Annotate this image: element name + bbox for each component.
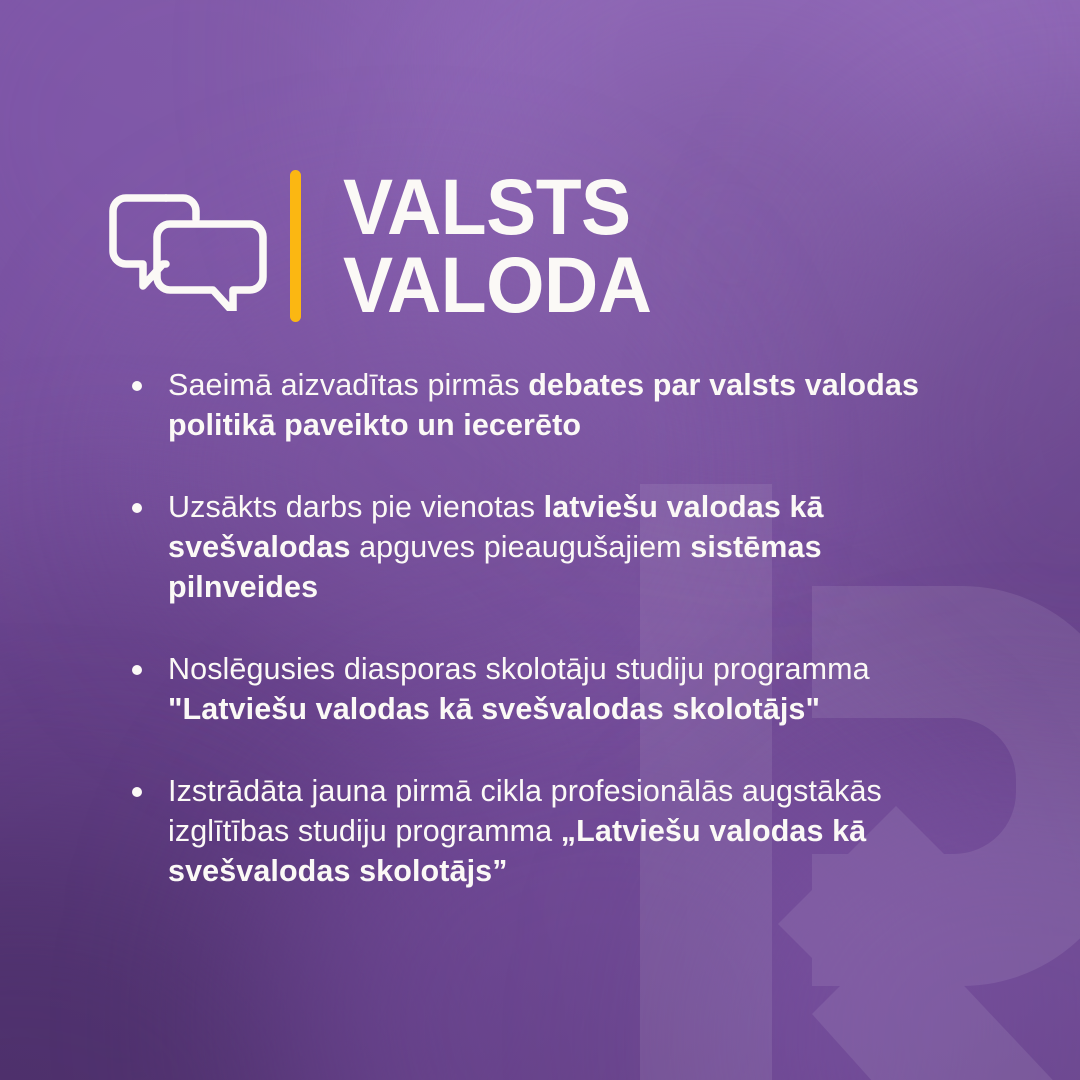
list-item: Uzsākts darbs pie vienotas latviešu valo… — [126, 488, 966, 607]
speech-bubbles-icon — [108, 181, 268, 311]
bullet-list: Saeimā aizvadītas pirmās debates par val… — [126, 366, 966, 891]
poster-header: VALSTS VALODA — [108, 168, 668, 324]
poster-canvas: VALSTS VALODA Saeimā aizvadītas pirmās d… — [0, 0, 1080, 1080]
list-item: Noslēgusies diasporas skolotāju studiju … — [126, 650, 966, 729]
accent-bar — [290, 170, 301, 322]
list-item: Saeimā aizvadītas pirmās debates par val… — [126, 366, 966, 445]
page-title: VALSTS VALODA — [343, 168, 651, 324]
list-item: Izstrādāta jauna pirmā cikla profesionāl… — [126, 772, 966, 891]
